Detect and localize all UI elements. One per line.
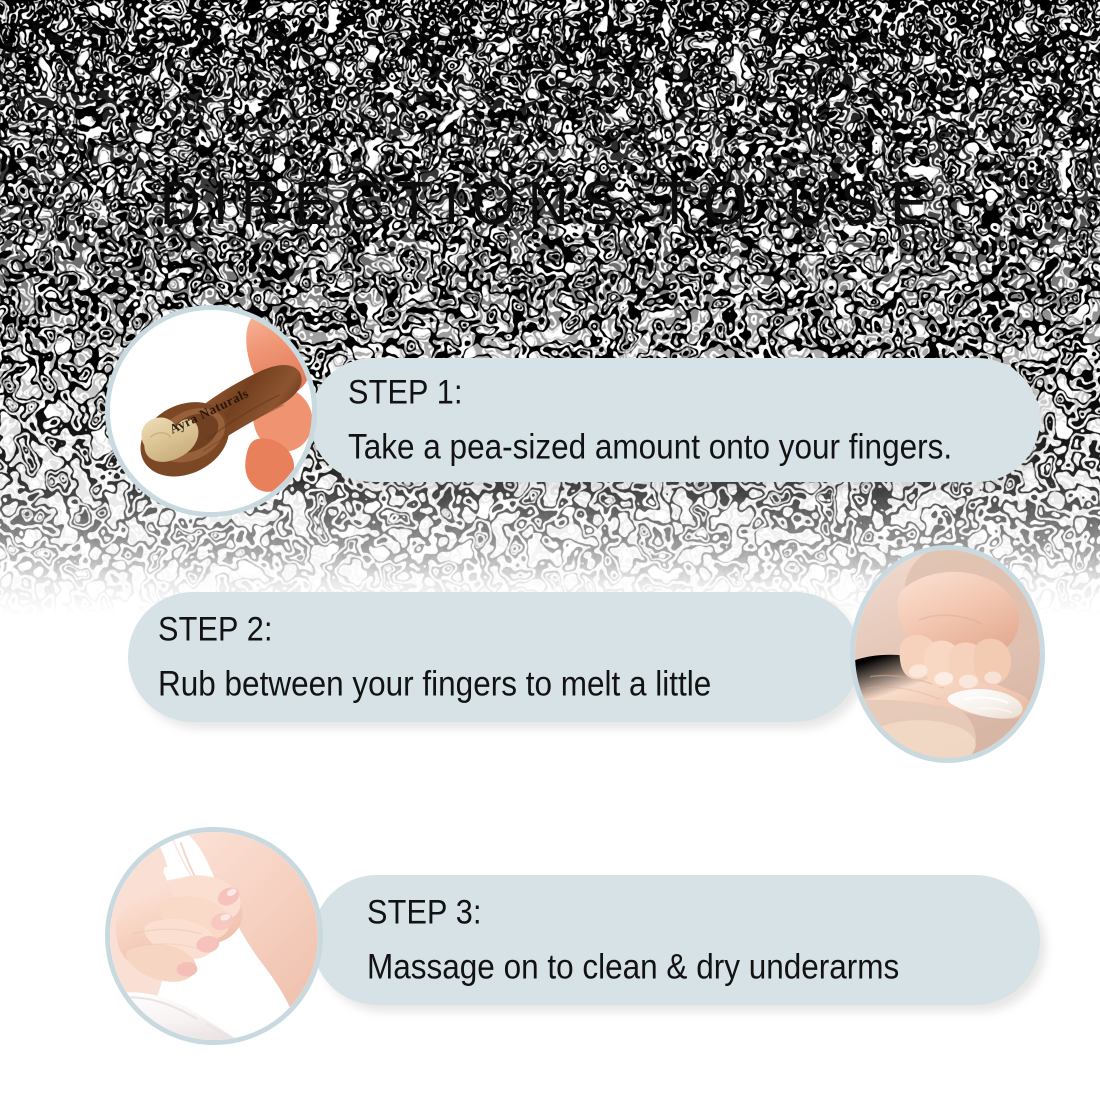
step-2-label: STEP 2: <box>158 609 790 649</box>
step-3-text: Massage on to clean & dry underarms <box>367 946 973 987</box>
page-title: DIRECTIONS TO USE <box>39 168 1062 238</box>
step-2-pill: STEP 2: Rub between your fingers to melt… <box>128 592 860 722</box>
directions-to-use-card: DIRECTIONS TO USE STEP 1: Take a pea-siz… <box>0 0 1100 1100</box>
step-1-label: STEP 1: <box>348 372 971 412</box>
hands-rubbing-cream-photo <box>850 545 1045 763</box>
step-3-pill: STEP 3: Massage on to clean & dry undera… <box>312 875 1040 1005</box>
wooden-spoon-with-cream-photo: Ayra Naturals <box>105 305 317 517</box>
step-1-pill: STEP 1: Take a pea-sized amount onto you… <box>310 358 1040 482</box>
step-1-text: Take a pea-sized amount onto your finger… <box>348 426 971 467</box>
step-3-label: STEP 3: <box>367 892 973 932</box>
step-2-text: Rub between your fingers to melt a littl… <box>158 663 790 704</box>
applying-to-underarm-photo <box>105 827 323 1045</box>
